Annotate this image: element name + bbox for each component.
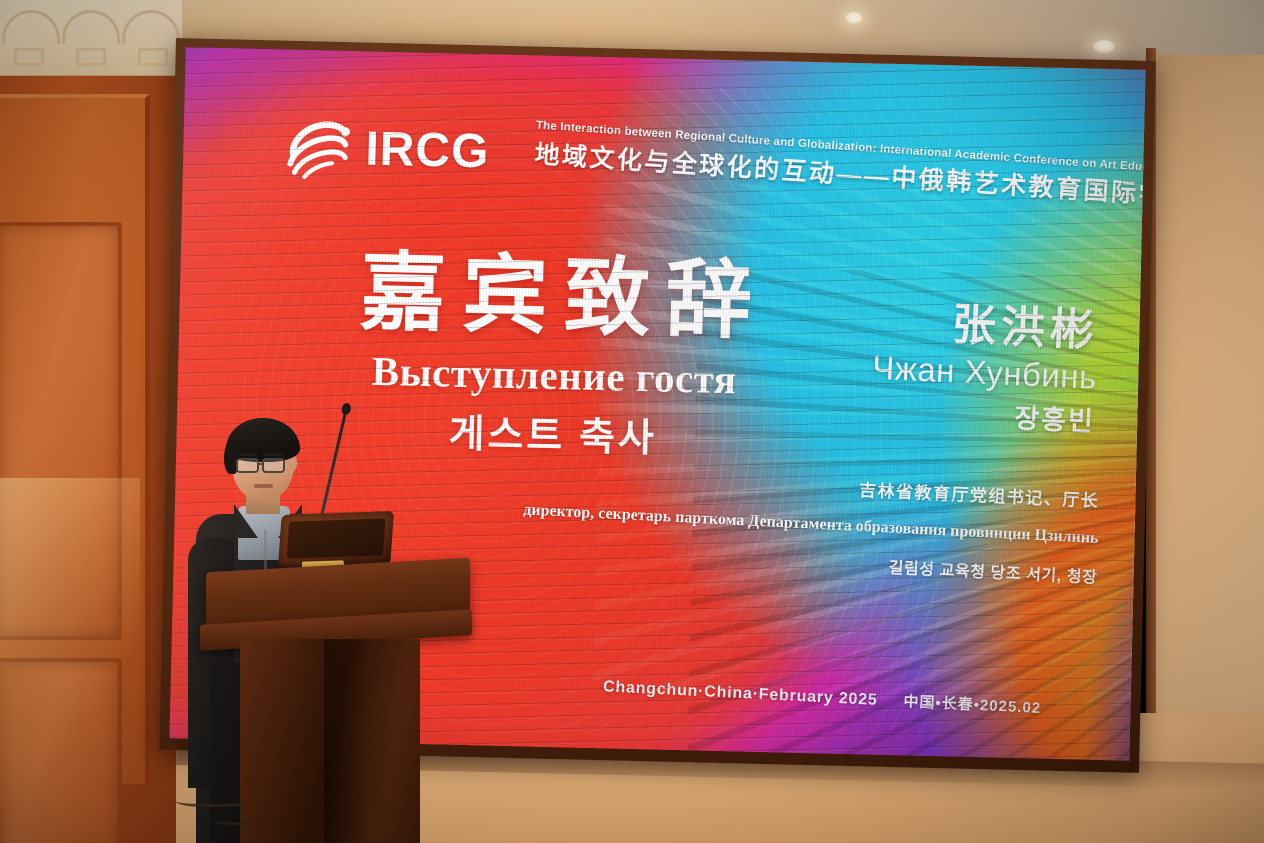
molding-box-icon — [76, 48, 106, 66]
molding-arc-icon — [62, 10, 120, 44]
footer-english: Changchun·China·February 2025 — [603, 678, 878, 710]
floor-cable — [210, 815, 264, 825]
confidence-monitor[interactable] — [278, 511, 394, 567]
ircg-globe-swirl-icon — [283, 112, 357, 186]
molding-arc-icon — [2, 10, 60, 44]
confidence-monitor-screen — [287, 518, 386, 558]
downlight-icon — [845, 12, 863, 24]
eyeglasses-icon — [236, 458, 259, 473]
molding-arc-icon — [122, 10, 180, 44]
conference-header: The Interaction between Regional Culture… — [534, 120, 1146, 201]
downlight-icon — [1093, 40, 1115, 53]
ircg-wordmark: IRCG — [365, 126, 490, 177]
speaker-eyebrow-left — [237, 453, 257, 456]
molding-box-icon — [14, 48, 44, 66]
footer-chinese: 中国•长春•2025.02 — [903, 690, 1042, 718]
podium-column-shadow — [324, 639, 366, 843]
door-header-molding — [0, 0, 182, 78]
speaker-eyebrow-right — [263, 453, 283, 456]
speaker-name: 张洪彬 Чжан Хунбинь 장홍빈 — [674, 288, 1099, 438]
ircg-logo: IRCG — [283, 112, 491, 189]
door-panel-upper — [0, 222, 122, 640]
molding-box-icon — [138, 48, 168, 66]
door-panel-lower — [0, 658, 122, 843]
wooden-door[interactable] — [0, 94, 150, 784]
speaker-mouth — [254, 484, 273, 488]
eyeglasses-icon — [262, 458, 285, 473]
conference-hall-scene: IRCG The Interaction between Regional Cu… — [0, 0, 1264, 843]
eyeglasses-bridge — [259, 463, 264, 465]
floor-cable — [176, 793, 248, 807]
slide-footer: Changchun·China·February 2025 中国•长春•2025… — [603, 675, 1042, 718]
